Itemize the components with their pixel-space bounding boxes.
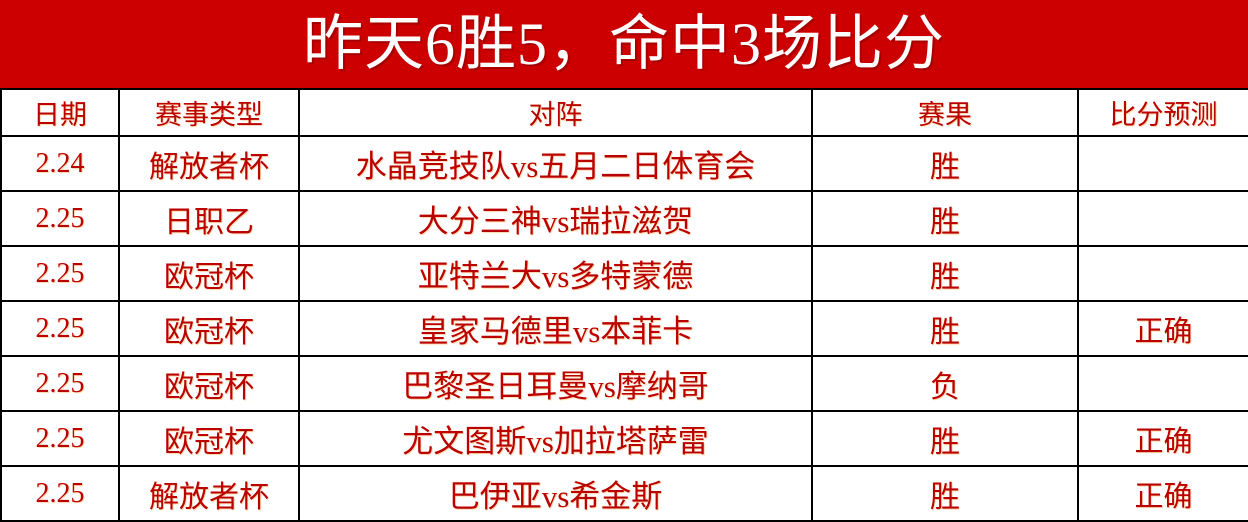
cell-date: 2.25 bbox=[1, 411, 119, 466]
cell-competition: 欧冠杯 bbox=[119, 356, 299, 411]
table-row: 2.25欧冠杯亚特兰大vs多特蒙德胜 bbox=[1, 246, 1248, 301]
cell-result: 负 bbox=[812, 356, 1078, 411]
cell-result: 胜 bbox=[812, 466, 1078, 521]
cell-prediction: 正确 bbox=[1078, 466, 1248, 521]
page-title: 昨天6胜5，命中3场比分 bbox=[303, 14, 945, 74]
match-results-table: 日期 赛事类型 对阵 赛果 比分预测 2.24解放者杯水晶竞技队vs五月二日体育… bbox=[0, 88, 1248, 522]
cell-date: 2.25 bbox=[1, 466, 119, 521]
cell-result: 胜 bbox=[812, 301, 1078, 356]
column-header-result: 赛果 bbox=[812, 89, 1078, 136]
cell-prediction: 正确 bbox=[1078, 411, 1248, 466]
cell-date: 2.24 bbox=[1, 136, 119, 191]
cell-result: 胜 bbox=[812, 246, 1078, 301]
cell-prediction bbox=[1078, 246, 1248, 301]
cell-result: 胜 bbox=[812, 136, 1078, 191]
cell-competition: 解放者杯 bbox=[119, 136, 299, 191]
column-header-prediction: 比分预测 bbox=[1078, 89, 1248, 136]
cell-date: 2.25 bbox=[1, 301, 119, 356]
cell-match: 亚特兰大vs多特蒙德 bbox=[299, 246, 812, 301]
cell-match: 尤文图斯vs加拉塔萨雷 bbox=[299, 411, 812, 466]
table-row: 2.25欧冠杯皇家马德里vs本菲卡胜正确 bbox=[1, 301, 1248, 356]
cell-prediction bbox=[1078, 356, 1248, 411]
cell-prediction: 正确 bbox=[1078, 301, 1248, 356]
cell-competition: 欧冠杯 bbox=[119, 301, 299, 356]
table-header: 日期 赛事类型 对阵 赛果 比分预测 bbox=[1, 89, 1248, 136]
table-row: 2.24解放者杯水晶竞技队vs五月二日体育会胜 bbox=[1, 136, 1248, 191]
cell-date: 2.25 bbox=[1, 356, 119, 411]
column-header-competition: 赛事类型 bbox=[119, 89, 299, 136]
table-row: 2.25解放者杯巴伊亚vs希金斯胜正确 bbox=[1, 466, 1248, 521]
cell-match: 水晶竞技队vs五月二日体育会 bbox=[299, 136, 812, 191]
cell-competition: 解放者杯 bbox=[119, 466, 299, 521]
cell-match: 巴伊亚vs希金斯 bbox=[299, 466, 812, 521]
table-row: 2.25日职乙大分三神vs瑞拉滋贺胜 bbox=[1, 191, 1248, 246]
table-row: 2.25欧冠杯尤文图斯vs加拉塔萨雷胜正确 bbox=[1, 411, 1248, 466]
cell-date: 2.25 bbox=[1, 246, 119, 301]
table-header-row: 日期 赛事类型 对阵 赛果 比分预测 bbox=[1, 89, 1248, 136]
cell-date: 2.25 bbox=[1, 191, 119, 246]
table-row: 2.25欧冠杯巴黎圣日耳曼vs摩纳哥负 bbox=[1, 356, 1248, 411]
cell-result: 胜 bbox=[812, 191, 1078, 246]
column-header-date: 日期 bbox=[1, 89, 119, 136]
cell-prediction bbox=[1078, 191, 1248, 246]
cell-competition: 日职乙 bbox=[119, 191, 299, 246]
column-header-match: 对阵 bbox=[299, 89, 812, 136]
cell-match: 皇家马德里vs本菲卡 bbox=[299, 301, 812, 356]
cell-match: 大分三神vs瑞拉滋贺 bbox=[299, 191, 812, 246]
cell-competition: 欧冠杯 bbox=[119, 246, 299, 301]
cell-competition: 欧冠杯 bbox=[119, 411, 299, 466]
cell-prediction bbox=[1078, 136, 1248, 191]
page-banner: 昨天6胜5，命中3场比分 bbox=[0, 0, 1248, 88]
table-body: 2.24解放者杯水晶竞技队vs五月二日体育会胜2.25日职乙大分三神vs瑞拉滋贺… bbox=[1, 136, 1248, 521]
cell-match: 巴黎圣日耳曼vs摩纳哥 bbox=[299, 356, 812, 411]
cell-result: 胜 bbox=[812, 411, 1078, 466]
